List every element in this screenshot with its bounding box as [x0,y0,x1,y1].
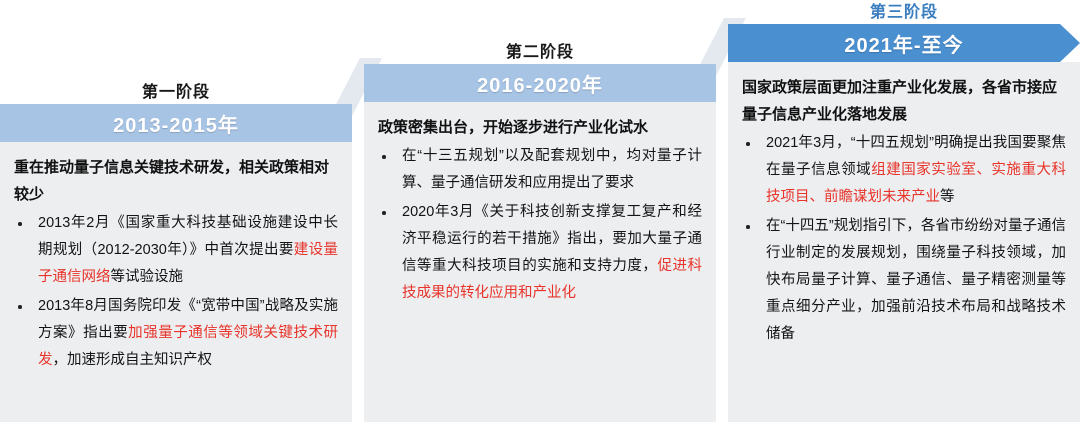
stage-2-period: 2016-2020年 [477,69,603,98]
stage-2-period-bar: 2016-2020年 [364,64,716,102]
timeline-diagram: 第一阶段 2013-2015年 重在推动量子信息关键技术研发，相关政策相对较少 … [0,0,1080,434]
bullet-text: 在“十四五”规划指引下，各省市纷纷对量子通信行业制定的发展规划，围绕量子科技领域… [766,218,1066,342]
stage-1-panel: 重在推动量子信息关键技术研发，相关政策相对较少 2013年2月《国家重大科技基础… [0,142,352,422]
stage-1-summary: 重在推动量子信息关键技术研发，相关政策相对较少 [14,154,338,208]
stage-3-panel: 国家政策层面更加注重产业化发展，各省市接应量子信息产业化落地发展 2021年3月… [728,62,1080,422]
stage-3-bullet-1: 2021年3月，“十四五规划”明确提出我国要聚焦在量子信息领域组建国家实验室、实… [738,130,1066,211]
stage-1-bullet-list: 2013年2月《国家重大科技基础设施建设中长期规划（2012-2030年）》中首… [10,210,338,374]
stage-3-label: 第三阶段 [728,2,1080,24]
stage-2-bullet-list: 在“十三五规划”以及配套规划中，均对量子计算、量子通信研发和应用提出了要求202… [374,143,702,307]
stage-2-label: 第二阶段 [364,42,716,64]
stage-2-panel: 政策密集出台，开始逐步进行产业化试水 在“十三五规划”以及配套规划中，均对量子计… [364,102,716,422]
stage-1-label: 第一阶段 [0,82,352,104]
stage-column-3: 第三阶段 2021年-至今 国家政策层面更加注重产业化发展，各省市接应量子信息产… [728,2,1080,422]
stage-3-bullet-2: 在“十四五”规划指引下，各省市纷纷对量子通信行业制定的发展规划，围绕量子科技领域… [738,213,1066,348]
stage-3-period-bar: 2021年-至今 [728,24,1080,62]
bullet-text: 在“十三五规划”以及配套规划中，均对量子计算、量子通信研发和应用提出了要求 [402,148,702,191]
stage-2-summary: 政策密集出台，开始逐步进行产业化试水 [378,114,702,141]
stage-1-bullet-2: 2013年8月国务院印发《“宽带中国”战略及实施方案》指出要加强量子通信等领域关… [10,293,338,374]
stage-3-period: 2021年-至今 [844,29,963,58]
stage-3-summary: 国家政策层面更加注重产业化发展，各省市接应量子信息产业化落地发展 [742,74,1066,128]
stage-column-1: 第一阶段 2013-2015年 重在推动量子信息关键技术研发，相关政策相对较少 … [0,82,352,422]
stage-2-bullet-1: 在“十三五规划”以及配套规划中，均对量子计算、量子通信研发和应用提出了要求 [374,143,702,197]
stage-column-2: 第二阶段 2016-2020年 政策密集出台，开始逐步进行产业化试水 在“十三五… [364,42,716,422]
stage-1-bullet-1: 2013年2月《国家重大科技基础设施建设中长期规划（2012-2030年）》中首… [10,210,338,291]
stage-3-bullet-list: 2021年3月，“十四五规划”明确提出我国要聚焦在量子信息领域组建国家实验室、实… [738,130,1066,348]
stage-1-period: 2013-2015年 [113,109,239,138]
bullet-text: 等试验设施 [111,269,184,285]
bullet-text: ，加速形成自主知识产权 [53,352,213,368]
stage-1-period-bar: 2013-2015年 [0,104,352,142]
bullet-text: 等 [940,189,955,205]
stage-2-bullet-2: 2020年3月《关于科技创新支撑复工复产和经济平稳运行的若干措施》指出，要加大量… [374,199,702,307]
